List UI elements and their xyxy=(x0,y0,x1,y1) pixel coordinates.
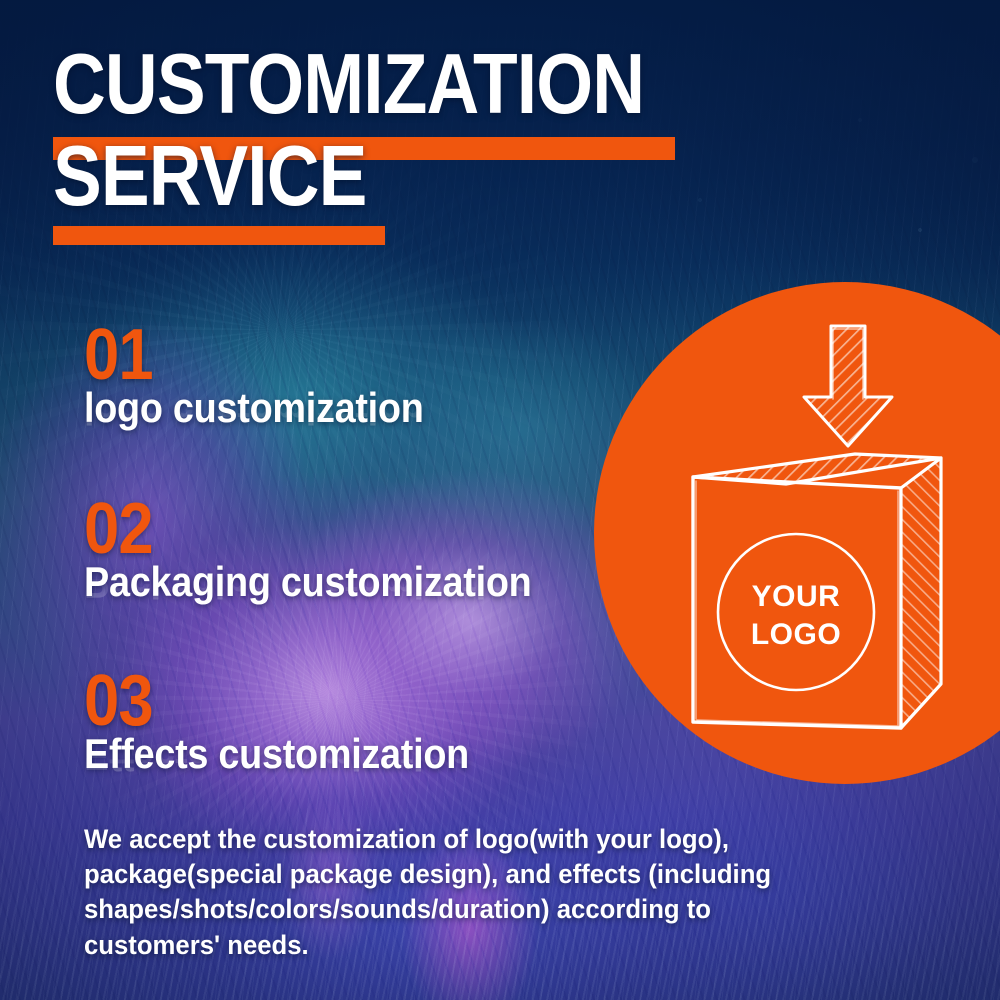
service-label-01: logo customization xyxy=(84,387,424,430)
service-label-03: Effects customization xyxy=(84,733,469,776)
body-paragraph: We accept the customization of logo(with… xyxy=(84,822,831,963)
poster-heading: CUSTOMIZATION SERVICE xyxy=(53,46,753,216)
service-label-02: Packaging customization xyxy=(84,561,531,604)
your-logo-line-2: LOGO xyxy=(751,618,841,651)
logo-circle-icon: YOUR LOGO xyxy=(718,534,874,690)
service-number-03: 03 xyxy=(84,672,460,731)
page-title-line-2: SERVICE xyxy=(53,138,655,216)
page-title-line-1: CUSTOMIZATION xyxy=(53,46,655,124)
title-line-2-wrapper: SERVICE xyxy=(53,138,753,216)
service-item-03: 03 Effects customization Effects customi… xyxy=(84,672,512,776)
package-box-illustration: YOUR LOGO xyxy=(600,282,1000,782)
service-label-wrapper-03: Effects customization Effects customizat… xyxy=(84,733,512,776)
down-arrow-icon xyxy=(804,326,892,446)
service-number-01: 01 xyxy=(84,326,416,385)
service-item-01: 01 logo customization logo customization xyxy=(84,326,461,430)
service-label-wrapper-01: logo customization logo customization xyxy=(84,387,461,430)
service-label-wrapper-02: Packaging customization Packaging custom… xyxy=(84,561,581,604)
title-underline-bar-2 xyxy=(53,226,385,245)
service-number-02: 02 xyxy=(84,500,522,559)
title-line-1-wrapper: CUSTOMIZATION xyxy=(53,46,753,124)
service-item-02: 02 Packaging customization Packaging cus… xyxy=(84,500,581,604)
promo-poster: YOUR LOGO CUSTOMIZATION SERVICE 01 logo … xyxy=(0,0,1000,1000)
your-logo-line-1: YOUR xyxy=(752,580,841,613)
